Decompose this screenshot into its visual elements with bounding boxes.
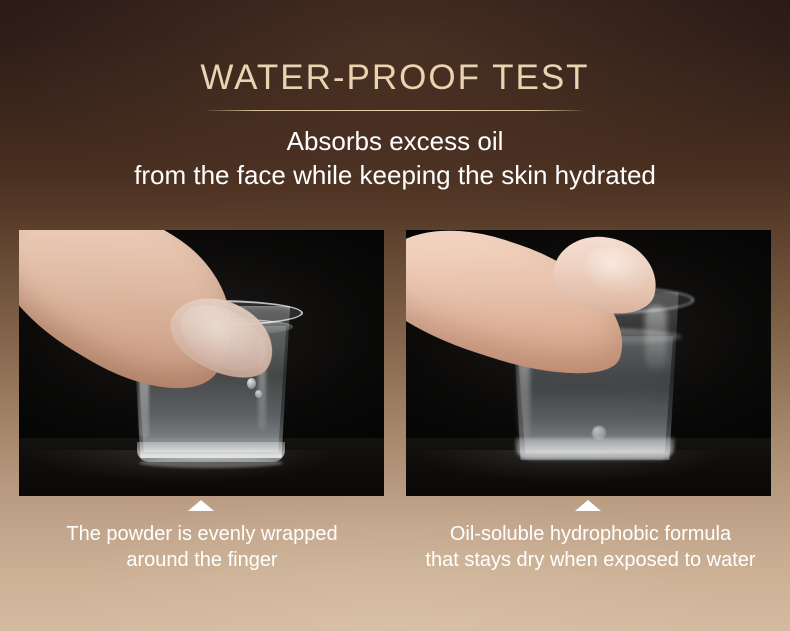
photo-finger-in-water <box>19 230 384 496</box>
caption-pointer-left <box>188 500 214 511</box>
promo-banner: WATER-PROOF TEST Absorbs excess oil from… <box>0 0 790 631</box>
photo-pair <box>19 230 771 496</box>
caption-right-line-2: that stays dry when exposed to water <box>398 547 783 573</box>
caption-left: The powder is evenly wrapped around the … <box>12 521 392 573</box>
water-droplet-small <box>255 390 262 398</box>
subtitle-line-1: Absorbs excess oil <box>0 124 790 158</box>
caption-left-line-1: The powder is evenly wrapped <box>12 521 392 547</box>
caption-right: Oil-soluble hydrophobic formula that sta… <box>398 521 783 573</box>
title-divider <box>208 110 582 111</box>
photo-finger-above-water <box>406 230 771 496</box>
caption-right-line-1: Oil-soluble hydrophobic formula <box>398 521 783 547</box>
glass-base <box>516 438 674 460</box>
water-bubble <box>592 426 606 440</box>
glass-foot <box>139 458 283 468</box>
caption-left-line-2: around the finger <box>12 547 392 573</box>
water-droplet <box>247 378 256 389</box>
subtitle: Absorbs excess oil from the face while k… <box>0 124 790 192</box>
glass-highlight-right <box>645 306 667 370</box>
caption-pointer-right <box>575 500 601 511</box>
subtitle-line-2: from the face while keeping the skin hyd… <box>0 158 790 192</box>
page-title: WATER-PROOF TEST <box>0 57 790 99</box>
